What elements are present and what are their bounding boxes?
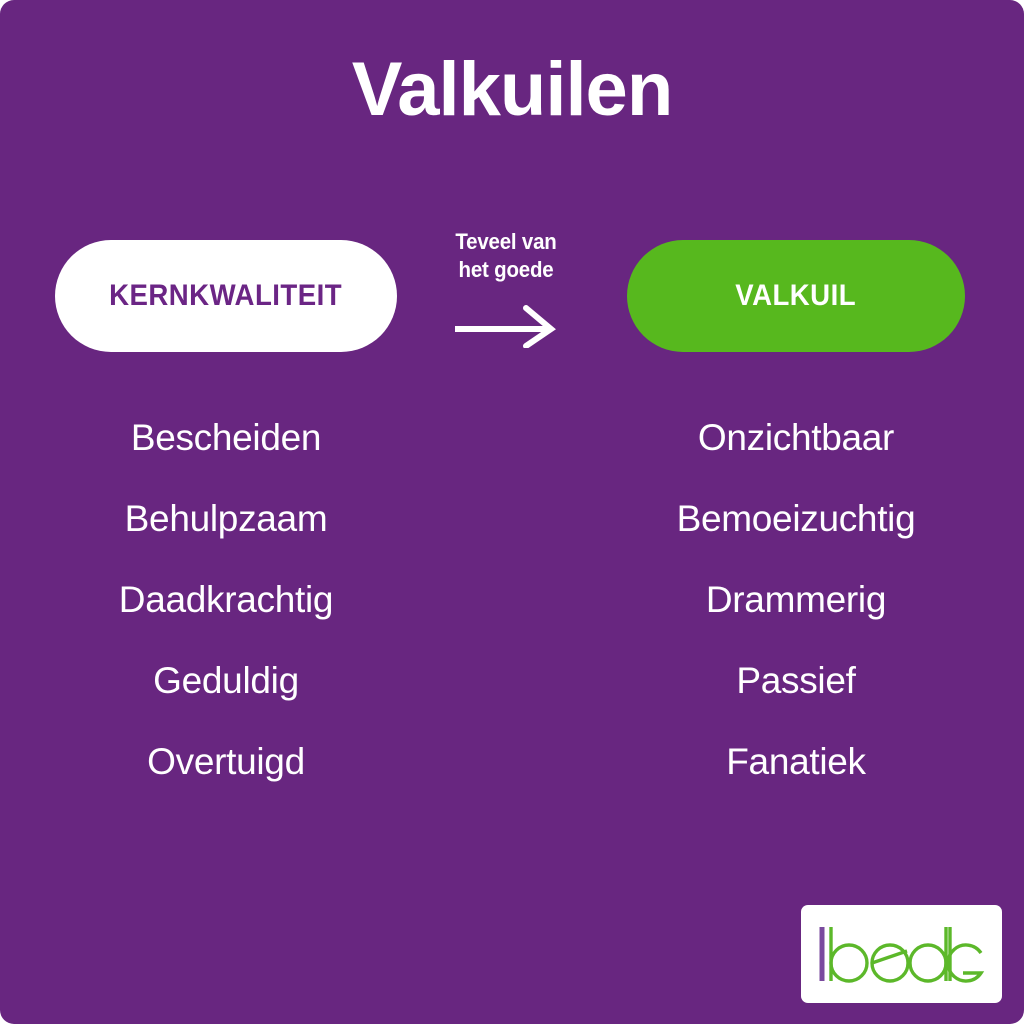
list-item: Bemoeizuchtig	[606, 491, 986, 572]
transition-caption: Teveel van het goede	[419, 228, 594, 284]
beaks-logo-icon	[818, 921, 986, 987]
beaks-logo	[801, 905, 1002, 1003]
list-item: Geduldig	[36, 653, 416, 734]
list-item: Daadkrachtig	[36, 572, 416, 653]
list-item: Drammerig	[606, 572, 986, 653]
slide-canvas: Valkuilen KERNKWALITEIT Teveel van het g…	[0, 0, 1024, 1024]
valkuil-header-label: VALKUIL	[736, 279, 857, 313]
kernkwaliteit-header-pill: KERNKWALITEIT	[55, 240, 397, 352]
transition-caption-line-2: het goede	[419, 256, 594, 284]
valkuilen-list: Onzichtbaar Bemoeizuchtig Drammerig Pass…	[606, 410, 986, 815]
transition-caption-line-1: Teveel van	[419, 228, 594, 256]
arrow-right-icon	[412, 304, 600, 348]
list-item: Bescheiden	[36, 410, 416, 491]
list-item: Fanatiek	[606, 734, 986, 815]
list-item: Passief	[606, 653, 986, 734]
list-item: Onzichtbaar	[606, 410, 986, 491]
kernkwaliteiten-list: Bescheiden Behulpzaam Daadkrachtig Gedul…	[36, 410, 416, 815]
list-item: Overtuigd	[36, 734, 416, 815]
list-item: Behulpzaam	[36, 491, 416, 572]
kernkwaliteit-header-label: KERNKWALITEIT	[110, 279, 343, 313]
transition-block: Teveel van het goede	[412, 228, 600, 348]
page-title: Valkuilen	[0, 52, 1024, 128]
valkuil-header-pill: VALKUIL	[627, 240, 965, 352]
